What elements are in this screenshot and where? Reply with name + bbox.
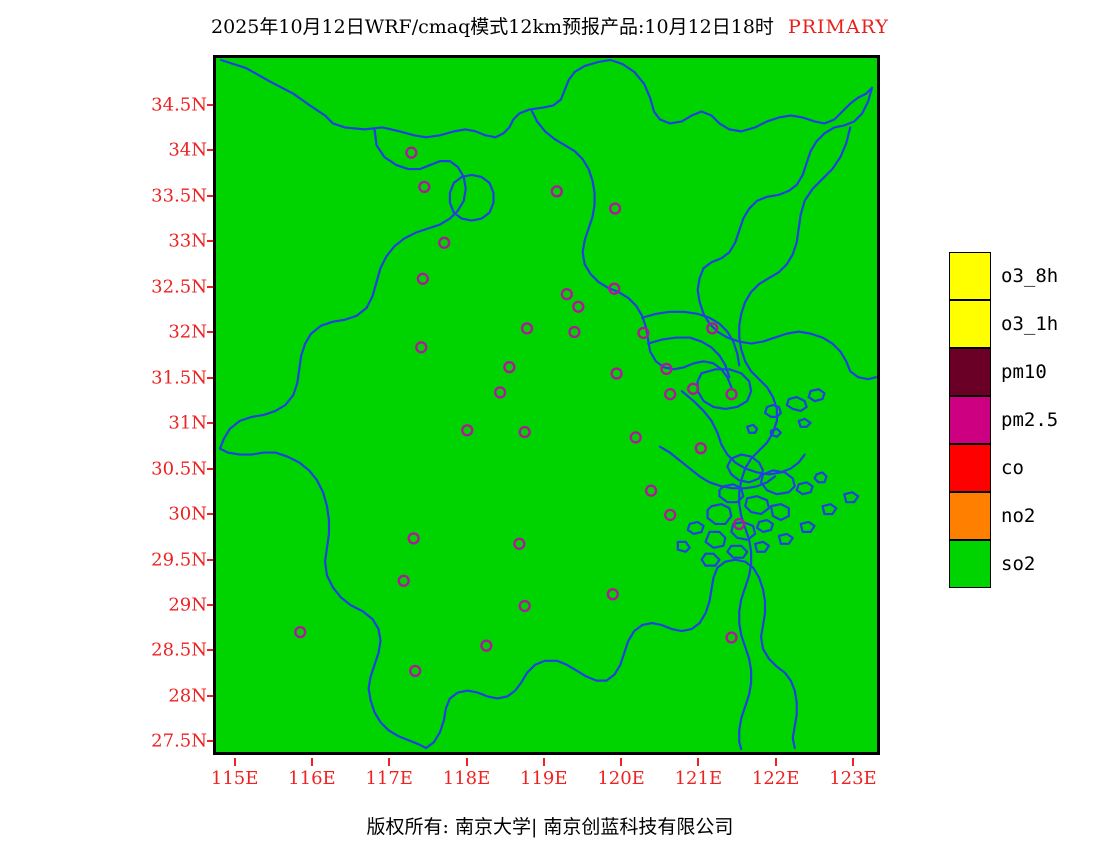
legend-color-swatch: [949, 444, 991, 492]
station-marker[interactable]: [409, 533, 419, 543]
station-markers: [295, 148, 744, 676]
station-marker[interactable]: [631, 432, 641, 442]
legend-item-label: pm10: [1001, 361, 1047, 383]
station-marker[interactable]: [406, 148, 416, 158]
x-axis-tick-label: 120E: [597, 768, 645, 789]
x-axis-tick-label: 117E: [365, 768, 413, 789]
copyright-footer: 版权所有: 南京大学| 南京创蓝科技有限公司: [0, 812, 1100, 839]
x-axis-tick-label: 116E: [288, 768, 336, 789]
legend-item[interactable]: co: [949, 444, 1094, 492]
pollutant-legend: o3_8ho3_1hpm10pm2.5cono2so2: [949, 252, 1094, 588]
x-axis-tick-mark: [234, 758, 236, 766]
legend-color-swatch: [949, 300, 991, 348]
x-axis-tick-label: 115E: [211, 768, 259, 789]
y-axis-tick-label: 28N: [168, 685, 207, 706]
station-marker[interactable]: [295, 627, 305, 637]
station-marker[interactable]: [665, 510, 675, 520]
y-axis-tick-label: 34.5N: [151, 95, 207, 116]
legend-color-swatch: [949, 252, 991, 300]
legend-item-label: co: [1001, 457, 1024, 479]
y-axis-tick-label: 27.5N: [151, 731, 207, 752]
station-marker[interactable]: [416, 342, 426, 352]
province-boundaries: [220, 60, 876, 749]
legend-color-swatch: [949, 396, 991, 444]
legend-color-swatch: [949, 540, 991, 588]
title-main-text: 2025年10月12日WRF/cmaq模式12km预报产品:10月12日18时: [211, 16, 774, 38]
station-marker[interactable]: [481, 641, 491, 651]
station-marker[interactable]: [707, 323, 717, 333]
y-axis-tick-label: 32.5N: [151, 276, 207, 297]
x-axis-tick-label: 122E: [752, 768, 800, 789]
legend-color-swatch: [949, 348, 991, 396]
x-axis: 115E116E117E118E119E120E121E122E123E: [213, 758, 880, 792]
station-marker[interactable]: [522, 323, 532, 333]
legend-item[interactable]: pm2.5: [949, 396, 1094, 444]
station-marker[interactable]: [514, 539, 524, 549]
legend-item[interactable]: so2: [949, 540, 1094, 588]
x-axis-tick-label: 119E: [520, 768, 568, 789]
x-axis-tick-mark: [543, 758, 545, 766]
legend-item[interactable]: o3_1h: [949, 300, 1094, 348]
x-axis-tick-label: 118E: [443, 768, 491, 789]
station-marker[interactable]: [410, 666, 420, 676]
y-axis: 34.5N34N33.5N33N32.5N32N31.5N31N30.5N30N…: [135, 55, 207, 755]
station-marker[interactable]: [439, 238, 449, 248]
title-primary-tag: PRIMARY: [788, 16, 889, 38]
x-axis-tick-mark: [697, 758, 699, 766]
legend-item-label: no2: [1001, 505, 1035, 527]
station-marker[interactable]: [419, 182, 429, 192]
legend-item[interactable]: o3_8h: [949, 252, 1094, 300]
station-marker[interactable]: [552, 186, 562, 196]
station-marker[interactable]: [462, 425, 472, 435]
x-axis-tick-mark: [852, 758, 854, 766]
map-canvas: [216, 58, 877, 752]
station-marker[interactable]: [520, 427, 530, 437]
legend-item-label: so2: [1001, 553, 1035, 575]
legend-color-swatch: [949, 492, 991, 540]
y-axis-tick-label: 30.5N: [151, 458, 207, 479]
legend-item-label: o3_8h: [1001, 265, 1058, 287]
station-marker[interactable]: [399, 576, 409, 586]
x-axis-tick-label: 123E: [829, 768, 877, 789]
station-marker[interactable]: [727, 633, 737, 643]
station-marker[interactable]: [562, 289, 572, 299]
x-axis-tick-mark: [775, 758, 777, 766]
y-axis-tick-label: 34N: [168, 140, 207, 161]
station-marker[interactable]: [727, 389, 737, 399]
y-axis-tick-label: 29.5N: [151, 549, 207, 570]
y-axis-tick-label: 30N: [168, 504, 207, 525]
legend-item[interactable]: pm10: [949, 348, 1094, 396]
station-marker[interactable]: [612, 369, 622, 379]
station-marker[interactable]: [418, 274, 428, 284]
y-axis-tick-label: 29N: [168, 595, 207, 616]
x-axis-tick-mark: [311, 758, 313, 766]
station-marker[interactable]: [569, 327, 579, 337]
y-axis-tick-label: 33.5N: [151, 185, 207, 206]
station-marker[interactable]: [573, 302, 583, 312]
x-axis-tick-mark: [466, 758, 468, 766]
y-axis-tick-label: 33N: [168, 231, 207, 252]
station-marker[interactable]: [696, 443, 706, 453]
page-title: 2025年10月12日WRF/cmaq模式12km预报产品:10月12日18时P…: [0, 12, 1100, 39]
x-axis-tick-mark: [620, 758, 622, 766]
station-marker[interactable]: [520, 601, 530, 611]
station-marker[interactable]: [495, 387, 505, 397]
y-axis-tick-label: 31.5N: [151, 367, 207, 388]
y-axis-tick-label: 31N: [168, 413, 207, 434]
x-axis-tick-label: 121E: [675, 768, 723, 789]
y-axis-tick-label: 28.5N: [151, 640, 207, 661]
station-marker[interactable]: [608, 589, 618, 599]
x-axis-tick-mark: [388, 758, 390, 766]
station-marker[interactable]: [646, 486, 656, 496]
legend-item-label: o3_1h: [1001, 313, 1058, 335]
map-plot-area[interactable]: [213, 55, 880, 755]
station-marker[interactable]: [665, 389, 675, 399]
legend-item-label: pm2.5: [1001, 409, 1058, 431]
station-marker[interactable]: [504, 362, 514, 372]
legend-item[interactable]: no2: [949, 492, 1094, 540]
station-marker[interactable]: [610, 204, 620, 214]
y-axis-tick-label: 32N: [168, 322, 207, 343]
